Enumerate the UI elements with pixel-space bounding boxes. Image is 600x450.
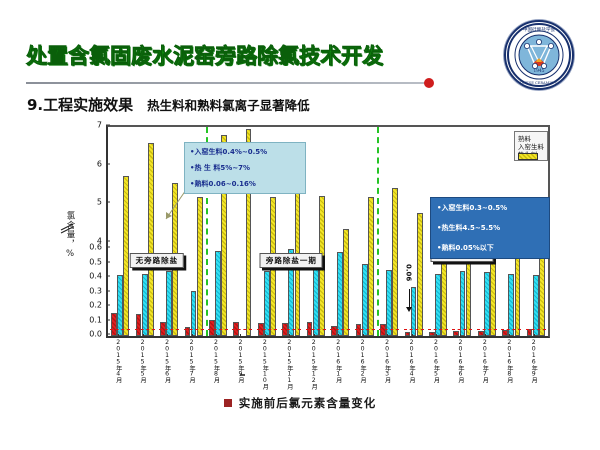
subtitle-row: 9.工程实施效果 热生料和熟料氯离子显著降低 xyxy=(27,94,310,115)
bar-hot-meal-1 xyxy=(148,143,154,336)
reference-line-segment xyxy=(232,329,252,330)
bar-kiln-feed-11 xyxy=(386,270,392,336)
bar-clinker-15 xyxy=(478,331,484,336)
title-underline-rule xyxy=(26,82,429,84)
x-tick-label: 2016年5月 xyxy=(432,339,441,383)
reference-line-segment xyxy=(110,329,130,330)
svg-text:THE CHINESE CERAMIC SOCIETY: THE CHINESE CERAMIC SOCIETY xyxy=(506,81,572,85)
x-tick-mark xyxy=(387,334,388,338)
bar-clinker-1 xyxy=(136,314,142,336)
x-tick-mark xyxy=(436,334,437,338)
svg-text:中国硅酸盐学会: 中国硅酸盐学会 xyxy=(523,26,556,33)
y-tick-mark xyxy=(106,202,110,203)
caption-row: 实施前后氯元素含量变化 xyxy=(0,395,600,411)
x-tick-label: 2016年8月 xyxy=(505,339,514,383)
bar-kiln-feed-9 xyxy=(337,252,343,336)
bar-hot-meal-12 xyxy=(417,213,423,336)
reference-line-segment xyxy=(526,329,546,330)
phase-label-0: 无旁路除盐 xyxy=(130,253,185,268)
reference-line-segment xyxy=(306,329,326,330)
x-tick-label: 2015年10月 xyxy=(260,339,269,389)
x-tick-label: 2015年5月 xyxy=(138,339,147,383)
x-tick-label: 2015年12月 xyxy=(309,339,318,389)
reference-line-segment xyxy=(257,329,277,330)
bar-kiln-feed-17 xyxy=(533,275,539,336)
phase-label-1: 旁路除盐一期 xyxy=(260,253,323,268)
x-tick-label: 2015年9月 xyxy=(236,339,245,383)
callout-right-line-1: •入窑生料0.3~0.5% xyxy=(437,203,543,213)
bar-clinker-11 xyxy=(380,324,386,336)
chart-legend: 熟料 入窑生料 热生料 xyxy=(514,131,548,161)
x-tick-label: 2015年4月 xyxy=(114,339,123,383)
x-tick-mark xyxy=(338,334,339,338)
clinker-drop-annotation: 0.06 xyxy=(405,264,413,281)
bar-clinker-17 xyxy=(527,329,533,336)
phase-divider xyxy=(377,127,379,336)
x-tick-mark xyxy=(143,334,144,338)
title-band: 处置含氯固废水泥窑旁路除氯技术开发 xyxy=(26,38,446,72)
slide-root: 处置含氯固废水泥窑旁路除氯技术开发 9.工程实施效果 热生料和熟料氯离子显著降低… xyxy=(0,0,600,450)
reference-line-segment xyxy=(404,329,424,330)
reference-line-segment xyxy=(135,329,155,330)
bar-clinker-9 xyxy=(331,326,337,336)
callout-left-line-2: •热 生 料5%~7% xyxy=(190,163,300,173)
x-tick-label: 2015年8月 xyxy=(212,339,221,383)
bar-clinker-12 xyxy=(405,332,411,336)
x-tick-label: 2016年6月 xyxy=(456,339,465,383)
y-tick-mark xyxy=(106,334,110,335)
x-tick-mark xyxy=(314,334,315,338)
bar-kiln-feed-8 xyxy=(313,267,319,336)
callout-right: •入窑生料0.3~0.5% •热生料4.5~5.5% •熟料0.05%以下 xyxy=(430,197,550,259)
reference-line-segment xyxy=(281,329,301,330)
x-tick-mark xyxy=(460,334,461,338)
y-tick-label: 0.3 xyxy=(89,286,106,295)
y-tick-label: 0.1 xyxy=(89,315,106,324)
callout-left: •入窑生料0.4%~0.5% •热 生 料5%~7% •熟料0.06~0.16% xyxy=(184,142,306,194)
bar-kiln-feed-4 xyxy=(215,251,221,336)
bar-clinker-13 xyxy=(429,332,435,336)
bar-kiln-feed-1 xyxy=(142,274,148,336)
y-tick-label: 4 xyxy=(97,236,106,245)
x-tick-label: 2016年7月 xyxy=(480,339,489,383)
section-description: 热生料和熟料氯离子显著降低 xyxy=(147,95,310,114)
x-tick-mark xyxy=(167,334,168,338)
reference-line-segment xyxy=(452,329,472,330)
x-tick-mark xyxy=(118,334,119,338)
x-tick-label: 2016年3月 xyxy=(383,339,392,383)
reference-line-segment xyxy=(330,329,350,330)
x-tick-label: 2015年7月 xyxy=(187,339,196,383)
x-tick-label: 2016年4月 xyxy=(407,339,416,383)
caption-text: 实施前后氯元素含量变化 xyxy=(239,395,377,411)
chart-panel: 氯含量，% 无旁路除盐旁路除盐一期旁路除盐二期0.06 0.00.10.20.3… xyxy=(66,125,554,383)
bar-hot-meal-3 xyxy=(197,197,203,336)
axis-break-icon xyxy=(60,220,74,234)
y-tick-mark xyxy=(106,290,110,291)
x-tick-mark xyxy=(363,334,364,338)
page-title: 处置含氯固废水泥窑旁路除氯技术开发 xyxy=(26,40,383,70)
x-tick-mark xyxy=(412,334,413,338)
annotation-arrow-head-icon xyxy=(406,307,412,312)
annotation-arrow-shaft xyxy=(409,289,410,309)
reference-line-segment xyxy=(501,329,521,330)
x-tick-mark xyxy=(216,334,217,338)
bar-kiln-feed-2 xyxy=(166,271,172,336)
y-tick-mark xyxy=(106,247,110,248)
title-bullet-dot-icon xyxy=(424,78,434,88)
bar-hot-meal-10 xyxy=(368,197,374,336)
y-tick-mark xyxy=(106,125,110,126)
y-tick-label: 0.0 xyxy=(89,330,106,339)
y-tick-mark xyxy=(106,240,110,241)
bar-kiln-feed-10 xyxy=(362,264,368,336)
y-tick-label: 0.2 xyxy=(89,301,106,310)
y-axis-title: 氯含量，% xyxy=(64,211,76,260)
callout-left-line-3: •熟料0.06~0.16% xyxy=(190,179,300,189)
bar-clinker-10 xyxy=(356,324,362,336)
bar-hot-meal-0 xyxy=(123,176,129,336)
caption-bullet-square-icon xyxy=(224,399,232,407)
y-tick-label: 7 xyxy=(97,121,106,130)
bar-clinker-14 xyxy=(453,331,459,336)
x-tick-label: 2015年11月 xyxy=(285,339,294,389)
y-tick-label: 6 xyxy=(97,159,106,168)
x-tick-mark xyxy=(240,334,241,338)
bar-kiln-feed-14 xyxy=(460,271,466,336)
callout-left-line-1: •入窑生料0.4%~0.5% xyxy=(190,147,300,157)
x-tick-mark xyxy=(534,334,535,338)
bar-kiln-feed-0 xyxy=(117,275,123,336)
callout-right-line-2: •热生料4.5~5.5% xyxy=(437,223,543,233)
bar-clinker-16 xyxy=(502,330,508,336)
x-tick-label: 2016年9月 xyxy=(529,339,538,383)
bar-kiln-feed-15 xyxy=(484,272,490,336)
legend-item: 热生料 xyxy=(518,150,544,158)
reference-line-segment xyxy=(159,329,179,330)
y-tick-label: 0.5 xyxy=(89,257,106,266)
y-tick-label: 0.4 xyxy=(89,272,106,281)
y-tick-mark xyxy=(106,163,110,164)
bar-hot-meal-11 xyxy=(392,188,398,336)
x-tick-label: 2016年1月 xyxy=(334,339,343,383)
y-tick-mark xyxy=(106,305,110,306)
bar-clinker-0 xyxy=(111,313,117,336)
reference-line-segment xyxy=(477,329,497,330)
x-tick-label: 2016年2月 xyxy=(358,339,367,383)
x-tick-mark xyxy=(192,334,193,338)
x-tick-label: 2015年6月 xyxy=(163,339,172,383)
bar-kiln-feed-16 xyxy=(508,274,514,336)
reference-line-segment xyxy=(208,329,228,330)
x-tick-mark xyxy=(289,334,290,338)
x-tick-mark xyxy=(485,334,486,338)
bar-kiln-feed-13 xyxy=(435,274,441,336)
callout-right-line-3: •熟料0.05%以下 xyxy=(437,243,543,253)
y-tick-mark xyxy=(106,319,110,320)
bar-kiln-feed-6 xyxy=(264,271,270,336)
x-tick-mark xyxy=(265,334,266,338)
reference-line-segment xyxy=(428,329,448,330)
section-number: 9.工程实施效果 xyxy=(27,94,133,115)
y-tick-mark xyxy=(106,261,110,262)
x-tick-mark xyxy=(509,334,510,338)
svg-text:1945: 1945 xyxy=(534,69,545,74)
y-tick-label: 5 xyxy=(97,198,106,207)
legend-swatch-hot-meal xyxy=(518,153,538,160)
chinese-ceramic-society-logo-icon: 1945 中国硅酸盐学会 THE CHINESE CERAMIC SOCIETY xyxy=(504,20,574,90)
reference-line-segment xyxy=(184,329,204,330)
reference-line-segment xyxy=(379,329,399,330)
y-tick-mark xyxy=(106,276,110,277)
bar-hot-meal-9 xyxy=(343,229,349,336)
reference-line-segment xyxy=(355,329,375,330)
